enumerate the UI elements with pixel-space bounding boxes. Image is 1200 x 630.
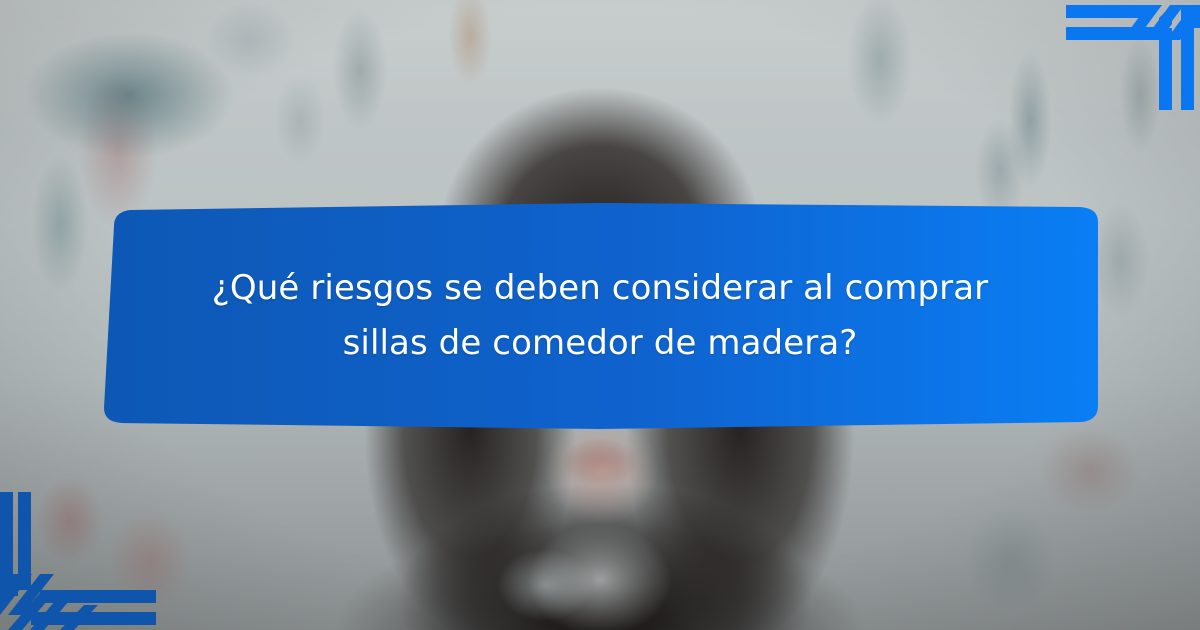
corner-bracket-bottom-left-icon	[0, 475, 162, 630]
title-banner-text-container: ¿Qué riesgos se deben considerar al comp…	[100, 200, 1100, 432]
corner-bracket-top-right	[1038, 0, 1200, 115]
corner-bracket-bottom-left	[0, 475, 162, 630]
title-banner: ¿Qué riesgos se deben considerar al comp…	[100, 200, 1100, 432]
social-share-card: ¿Qué riesgos se deben considerar al comp…	[0, 0, 1200, 630]
page-title: ¿Qué riesgos se deben considerar al comp…	[200, 261, 1000, 371]
corner-bracket-top-right-icon	[1038, 0, 1200, 115]
